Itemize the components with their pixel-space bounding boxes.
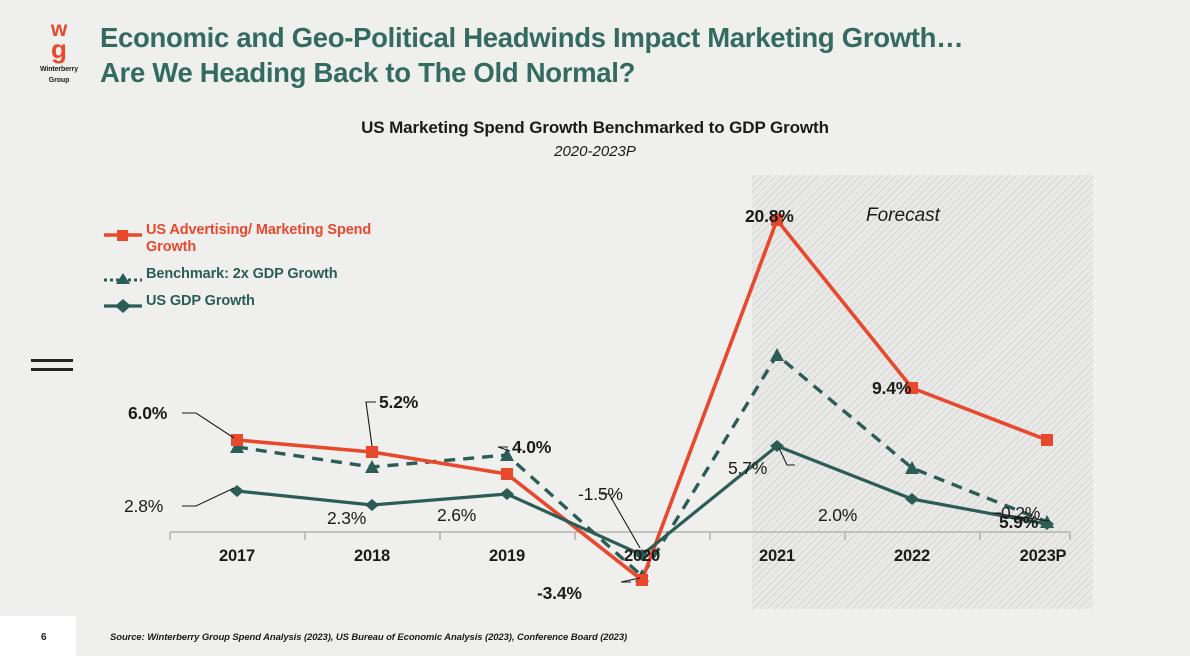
- legend-item-us-gdp-growth[interactable]: US GDP Growth: [104, 293, 404, 310]
- x-tick-2022: 2022: [862, 547, 962, 566]
- chart-legend: US Advertising/ Marketing Spend Growth B…: [104, 222, 404, 320]
- data-label-adspend-2021: 20.8%: [745, 206, 794, 227]
- legend-label-us-gdp-growth: US GDP Growth: [146, 293, 404, 310]
- source-citation: Source: Winterberry Group Spend Analysis…: [110, 632, 627, 643]
- legend-marker-square-icon: [104, 227, 142, 243]
- legend-marker-triangle-icon: [104, 271, 142, 287]
- line-chart-plot: [0, 0, 1190, 669]
- slide-canvas: w g Winterberry Group Economic and Geo-P…: [0, 0, 1190, 669]
- legend-item-ad-spend-growth[interactable]: US Advertising/ Marketing Spend Growth: [104, 222, 404, 256]
- page-number: 6: [41, 632, 47, 643]
- legend-marker-diamond-icon: [104, 298, 142, 314]
- legend-item-benchmark-2x-gdp[interactable]: Benchmark: 2x GDP Growth: [104, 266, 404, 283]
- data-label-adspend-2020: -3.4%: [537, 583, 582, 604]
- series-line-us-gdp-growth: [237, 446, 1047, 555]
- legend-label-ad-spend-growth: US Advertising/ Marketing Spend Growth: [146, 222, 404, 256]
- data-label-gdp-2021: 5.7%: [728, 458, 767, 479]
- data-label-gdp-2018: 2.3%: [327, 508, 366, 529]
- x-tick-2019: 2019: [457, 547, 557, 566]
- data-label-adspend-2022: 9.4%: [872, 378, 911, 399]
- markers-us-gdp-growth: [230, 440, 1054, 561]
- data-label-adspend-2017: 6.0%: [128, 403, 167, 424]
- data-label-gdp-2017: 2.8%: [124, 496, 163, 517]
- x-axis-ticks: [170, 532, 1070, 540]
- x-tick-2017: 2017: [187, 547, 287, 566]
- data-label-gdp-2019: 2.6%: [437, 505, 476, 526]
- x-tick-2018: 2018: [322, 547, 422, 566]
- data-label-gdp-2020: -1.5%: [578, 484, 623, 505]
- legend-label-benchmark-2x-gdp: Benchmark: 2x GDP Growth: [146, 266, 404, 283]
- data-label-adspend-2018: 5.2%: [379, 392, 418, 413]
- data-label-gdp-2022: 2.0%: [818, 505, 857, 526]
- x-tick-2020: 2020: [592, 547, 692, 566]
- x-tick-2023p: 2023P: [993, 547, 1093, 566]
- series-line-benchmark-2x-gdp: [237, 355, 1047, 576]
- data-label-gdp-2023p: 0.2%: [1001, 503, 1040, 524]
- x-tick-2021: 2021: [727, 547, 827, 566]
- data-label-adspend-2019: 4.0%: [512, 437, 551, 458]
